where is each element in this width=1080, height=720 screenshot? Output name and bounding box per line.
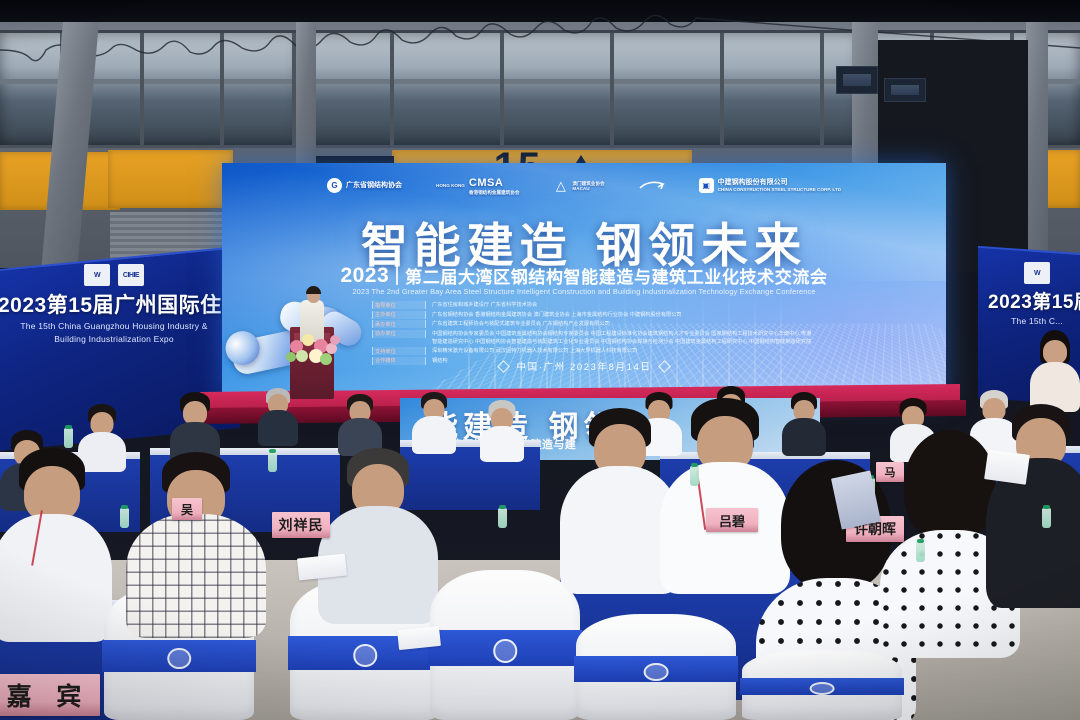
diamond-icon [497,360,510,373]
placard-liu-xiangmin: 刘祥民 [272,512,330,538]
water-bottle [498,508,507,528]
organizer-value: 广东省钢结构协会 香港钢结构金属建筑协会 澳门建筑业协会 上海市金属结构行业协会… [432,311,682,319]
logo-text-1: 香港钢结构金属建筑协会 [469,190,520,195]
side-banner-left-en2: Building Industrialization Expo [0,334,230,345]
expo-mark-logo: W [84,264,110,286]
expo-mark-logo: W [1024,262,1050,284]
side-banner-right-title: 2023第15届 [988,287,1080,314]
conference-photo: 15 W CIHIE 2023第15届广州国际住博会 The 15th Chin… [0,0,1080,720]
water-bottle [268,452,277,472]
exit-sign-secondary-icon [884,78,926,102]
organizer-value: 广东省建筑工程师协会与装配式建筑专业委员会 广东钢结构产业发展有限公司 [432,320,610,328]
chair-cover [430,570,580,720]
chair-cover [576,614,736,720]
placard-ma: 马 [876,462,904,482]
logo-pre-1: HONG KONG [436,183,465,188]
water-bottle [1042,508,1051,528]
organizer-row: 承办单位 广东省建筑工程师协会与装配式建筑专业委员会 广东钢结构产业发展有限公司 [372,320,812,328]
organizer-key: 协办单位 [372,330,426,338]
placard-guest: 嘉 宾 [0,674,100,716]
organizer-key: 主办单位 [372,311,426,319]
water-bottle [64,428,73,448]
divider [396,266,398,285]
water-bottle [916,542,925,562]
sponsor-logo-row: G 广东省钢结构协会 HONG KONG CMSA 香港钢结构金属建筑协会 △ … [222,177,946,195]
attendee-front [318,448,438,618]
logo-en-2: MACAU [572,186,604,191]
cmsa-logo: HONG KONG CMSA 香港钢结构金属建筑协会 [436,177,519,195]
screen-subtitle-line: 2023 第二届大湾区钢结构智能建造与建筑工业化技术交流会 [222,263,946,288]
attendee [338,394,382,454]
organizer-row: 协办单位 中国钢结构协会专家委员会 中国建筑金属结构协会钢结构专家委员会 中国工… [372,330,812,346]
attendee-front [986,404,1080,604]
organizer-key: 指导单位 [372,301,426,309]
side-banner-right-logos: W [988,262,1080,284]
organizer-value: 深圳精米激光设备有限公司 武汉固特力机器人技术有限公司 上海大界机器人科技有限公… [432,347,637,355]
swoosh-logo [639,179,665,193]
podium-flower-arrangement [282,330,344,370]
exit-sign-icon [836,66,878,94]
orange-wall-panel-left2 [108,150,233,208]
organizer-key: 承办单位 [372,320,426,328]
organizer-key: 支持单位 [372,347,426,355]
organizer-row: 支持单位 深圳精米激光设备有限公司 武汉固特力机器人技术有限公司 上海大界机器人… [372,347,812,355]
logo-en-1: CMSA [469,177,503,189]
side-banner-left-title: 2023第15届广州国际住博会 [0,289,230,319]
logo-text-4: 中建钢构股份有限公司 [718,179,788,186]
logo-en-4: CHINA CONSTRUCTION STEEL STRUCTURE CORP.… [718,187,841,192]
water-bottle [690,466,699,486]
chair-cover [742,650,902,720]
placard-lv-bi: 吕碧 [706,508,758,532]
attendee-front [0,448,112,638]
logo-text-0: 广东省钢结构协会 [346,182,402,189]
screen-subtitle-cn: 第二届大湾区钢结构智能建造与建筑工业化技术交流会 [405,263,827,288]
side-banner-left-en1: The 15th China Guangzhou Housing Industr… [0,321,230,332]
side-banner-left-logos: W CIHIE [0,264,230,286]
organizer-credits: 指导单位 广东省住房和城乡建设厅 广东省科学技术协会 主办单位 广东省钢结构协会… [372,301,812,366]
guangdong-steel-association-logo: G 广东省钢结构协会 [327,178,402,193]
attendee [480,400,524,460]
structural-column-center [296,22,316,172]
side-banner-right-en1: The 15th C... [988,316,1080,327]
placard-wu: 吴 [172,498,202,520]
china-construction-steel-logo: ▣ 中建钢构股份有限公司 CHINA CONSTRUCTION STEEL ST… [699,178,841,193]
water-bottle [120,508,129,528]
screen-subtitle-en: 2023 The 2nd Greater Bay Area Steel Stru… [222,287,946,296]
attendee [412,392,456,452]
screen-year: 2023 [340,264,389,288]
handout-paper [984,449,1030,485]
structural-column-far-right [1026,22,1048,252]
organizer-row: 指导单位 广东省住房和城乡建设厅 广东省科学技术协会 [372,301,812,309]
macau-logo: △ 澳门建筑业协会 MACAU [553,178,604,193]
cihie-logo: CIHIE [118,264,144,286]
organizer-value: 广东省住房和城乡建设厅 广东省科学技术协会 [432,301,537,309]
organizer-value: 中国钢结构协会专家委员会 中国建筑金属结构协会钢结构专家委员会 中国工程建设标准… [432,330,812,346]
attendee-front [126,452,266,632]
diamond-icon [659,360,672,373]
attendee [1030,330,1080,410]
attendee [258,388,298,444]
speaker-hair [306,286,321,294]
date-location-text: 中国·广州 2023年8月14日 [517,359,652,373]
swoosh-icon [639,179,665,193]
organizer-row: 主办单位 广东省钢结构协会 香港钢结构金属建筑协会 澳门建筑业协会 上海市金属结… [372,311,812,319]
